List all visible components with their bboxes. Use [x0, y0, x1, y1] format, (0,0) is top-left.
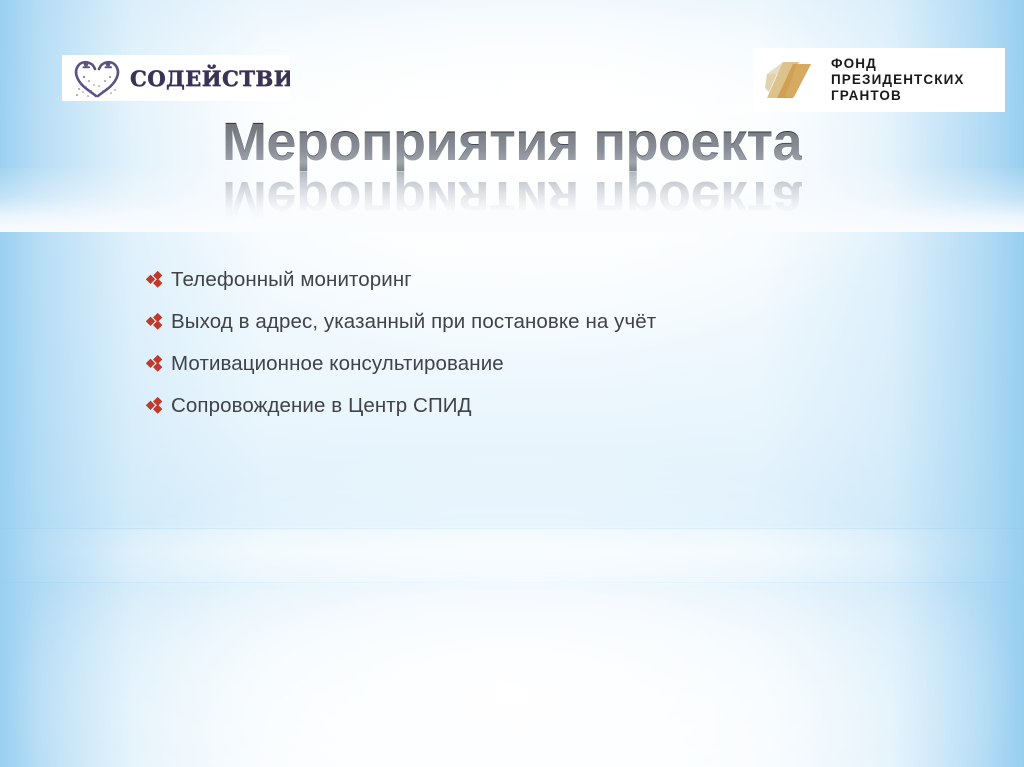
list-item-label: Мотивационное консультирование	[171, 350, 504, 378]
list-item-label: Выход в адрес, указанный при постановке …	[171, 308, 656, 336]
presentation-slide: СОДЕЙСТВИЕ ФОНД ПРЕЗИДЕНТСКИХ ГРАНТОВ Ме…	[0, 0, 1024, 767]
page-title: Мероприятия проекта	[222, 112, 802, 172]
two-hearts-icon	[70, 57, 124, 99]
list-item: Мотивационное консультирование	[146, 350, 906, 392]
diamond-cluster-icon	[146, 354, 168, 376]
title-block: Мероприятия проекта	[0, 112, 1024, 172]
list-item-label: Телефонный мониторинг	[171, 266, 412, 294]
sodeystvie-logo: СОДЕЙСТВИЕ	[62, 55, 290, 101]
list-item: Выход в адрес, указанный при постановке …	[146, 308, 906, 350]
fond-line-1: ФОНД	[831, 56, 965, 72]
prezidentskie-granty-logo: ФОНД ПРЕЗИДЕНТСКИХ ГРАНТОВ	[753, 48, 1005, 112]
page-title-reflection-fade	[0, 168, 1024, 232]
sodeystvie-wordmark: СОДЕЙСТВИЕ	[130, 66, 290, 91]
page-title-reflection-text: Мероприятия проекта	[222, 170, 802, 230]
list-item: Сопровождение в Центр СПИД	[146, 392, 906, 434]
page-title-reflection: Мероприятия проекта	[0, 170, 1024, 230]
fond-wordmark: ФОНД ПРЕЗИДЕНТСКИХ ГРАНТОВ	[831, 56, 965, 104]
diamond-cluster-icon	[146, 270, 168, 292]
diamond-cluster-icon	[146, 396, 168, 418]
fond-line-3: ГРАНТОВ	[831, 88, 965, 104]
fond-line-2: ПРЕЗИДЕНТСКИХ	[831, 72, 965, 88]
ribbon-mark-icon	[763, 58, 823, 102]
diamond-cluster-icon	[146, 312, 168, 334]
list-item: Телефонный мониторинг	[146, 266, 906, 308]
list-item-label: Сопровождение в Центр СПИД	[171, 392, 472, 420]
bullet-list: Телефонный мониторинг Выход в адрес, ука…	[146, 266, 906, 434]
